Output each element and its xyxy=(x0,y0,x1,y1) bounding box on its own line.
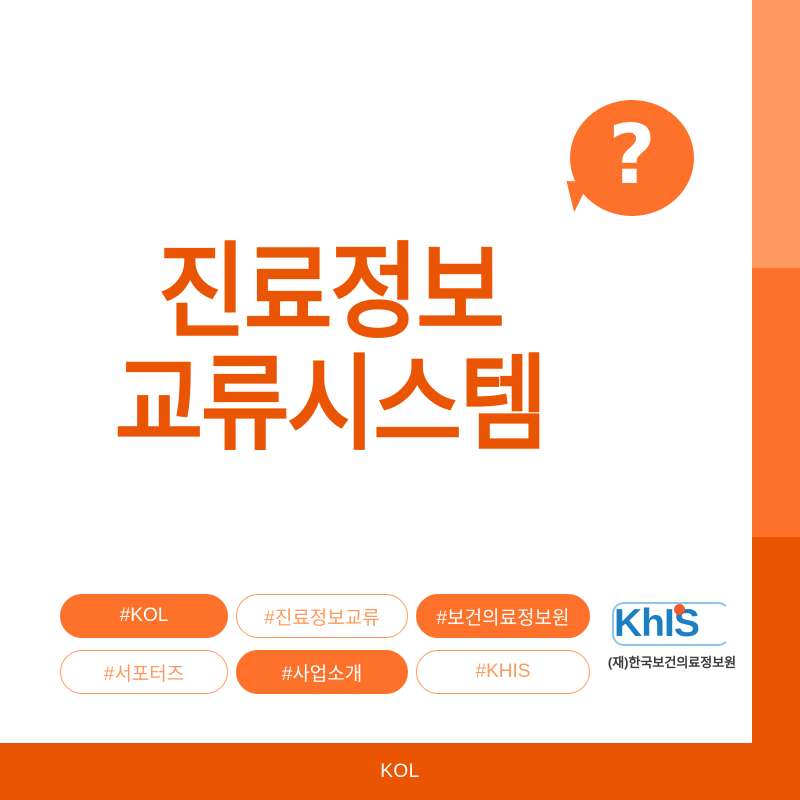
question-bubble: ? xyxy=(570,100,694,216)
page-title-line-1: 진료정보 xyxy=(23,236,637,348)
page-title: 진료정보 교류시스템 xyxy=(0,236,660,460)
decor-band-mid xyxy=(752,268,800,537)
logo-dot-icon xyxy=(674,604,685,615)
tag-list: #KOL #진료정보교류 #보건의료정보원 #서포터즈 #사업소개 #KHIS xyxy=(60,594,594,694)
tag-medical-info-exchange[interactable]: #진료정보교류 xyxy=(236,594,408,638)
footer-label: KOL xyxy=(0,743,800,800)
khis-logo: KhIS (재)한국보건의료정보원 xyxy=(606,598,738,684)
decor-band-light xyxy=(752,0,800,268)
tag-supporters[interactable]: #서포터즈 xyxy=(60,650,228,694)
logo-subtitle: (재)한국보건의료정보원 xyxy=(606,652,738,671)
footer-corner-notch xyxy=(690,681,752,743)
tag-kol[interactable]: #KOL xyxy=(60,594,228,638)
footer-bar: KOL xyxy=(0,743,800,800)
decor-band-dark xyxy=(752,537,800,743)
tag-business-intro[interactable]: #사업소개 xyxy=(236,650,408,694)
tag-health-info-agency[interactable]: #보건의료정보원 xyxy=(416,594,590,638)
tag-khis[interactable]: #KHIS xyxy=(416,650,590,694)
page-title-line-2: 교류시스템 xyxy=(23,348,637,460)
promo-card: ? 진료정보 교류시스템 #KOL #진료정보교류 #보건의료정보원 #서포터즈… xyxy=(0,0,800,800)
question-mark-icon: ? xyxy=(570,100,694,216)
